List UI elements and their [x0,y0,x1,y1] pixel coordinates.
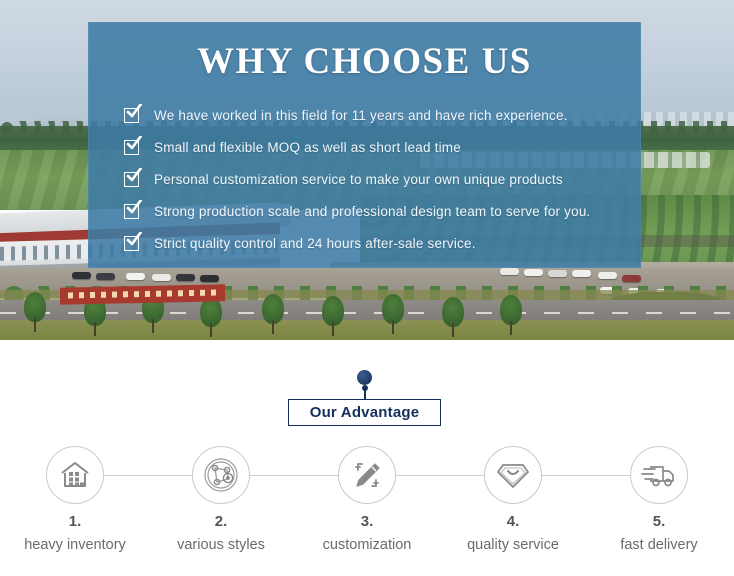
list-item: Strict quality control and 24 hours afte… [124,227,641,259]
why-choose-us-panel: WHY CHOOSE US We have worked in this fie… [88,22,641,268]
step-item-3[interactable]: 3. customization [294,446,440,553]
roadside-tree [24,292,46,332]
checkbox-checked-icon [124,138,142,156]
parked-car [200,275,219,282]
parked-car [622,275,641,282]
parked-car [176,274,195,281]
checkbox-checked-icon [124,202,142,220]
parked-car [524,269,543,276]
checkbox-checked-icon [124,170,142,188]
foreground-grass [0,320,734,340]
step-caption: customization [294,537,440,553]
pencil-edit-icon [338,446,396,504]
roadside-tree [382,294,404,334]
parked-car [96,273,115,280]
roadside-tree [442,297,464,337]
our-advantage-label-box: Our Advantage [288,399,441,426]
parked-car [126,273,145,280]
list-item-label: Strict quality control and 24 hours afte… [154,236,476,251]
step-caption: fast delivery [586,537,732,553]
parked-car [572,270,591,277]
step-number: 2. [148,513,294,530]
list-item-label: Small and flexible MOQ as well as short … [154,140,461,155]
list-item: Small and flexible MOQ as well as short … [124,131,641,163]
step-caption: heavy inventory [2,537,148,553]
step-item-2[interactable]: 2. various styles [148,446,294,553]
advantage-steps: 1. heavy inventory 2. various styles [0,446,734,566]
checkbox-checked-icon [124,234,142,252]
checkbox-checked-icon [124,106,142,124]
step-item-1[interactable]: 1. heavy inventory [2,446,148,553]
roadside-tree [322,296,344,336]
diamond-smile-icon [484,446,542,504]
parked-car [548,270,567,277]
step-number: 4. [440,513,586,530]
panel-title: WHY CHOOSE US [88,40,641,83]
factory-signboard [60,284,225,304]
network-nodes-icon [192,446,250,504]
hero-background-photo: WHY CHOOSE US We have worked in this fie… [0,0,734,340]
roadside-tree [262,294,284,334]
step-number: 3. [294,513,440,530]
step-item-5[interactable]: 5. fast delivery [586,446,732,553]
step-caption: various styles [148,537,294,553]
step-caption: quality service [440,537,586,553]
list-item-label: Strong production scale and professional… [154,204,591,219]
map-pin-icon [357,370,373,402]
benefits-list: We have worked in this field for 11 year… [88,99,641,259]
step-number: 1. [2,513,148,530]
list-item-label: We have worked in this field for 11 year… [154,108,568,123]
step-item-4[interactable]: 4. quality service [440,446,586,553]
parked-car [72,272,91,279]
list-item: We have worked in this field for 11 year… [124,99,641,131]
roadside-tree [200,297,222,337]
parked-car [500,268,519,275]
list-item: Strong production scale and professional… [124,195,641,227]
list-item: Personal customization service to make y… [124,163,641,195]
delivery-truck-icon [630,446,688,504]
warehouse-icon [46,446,104,504]
roadside-tree [500,295,522,335]
parked-car [152,274,171,281]
step-number: 5. [586,513,732,530]
parked-car [598,272,617,279]
list-item-label: Personal customization service to make y… [154,172,563,187]
our-advantage-label: Our Advantage [310,404,420,421]
page-root: WHY CHOOSE US We have worked in this fie… [0,0,734,576]
